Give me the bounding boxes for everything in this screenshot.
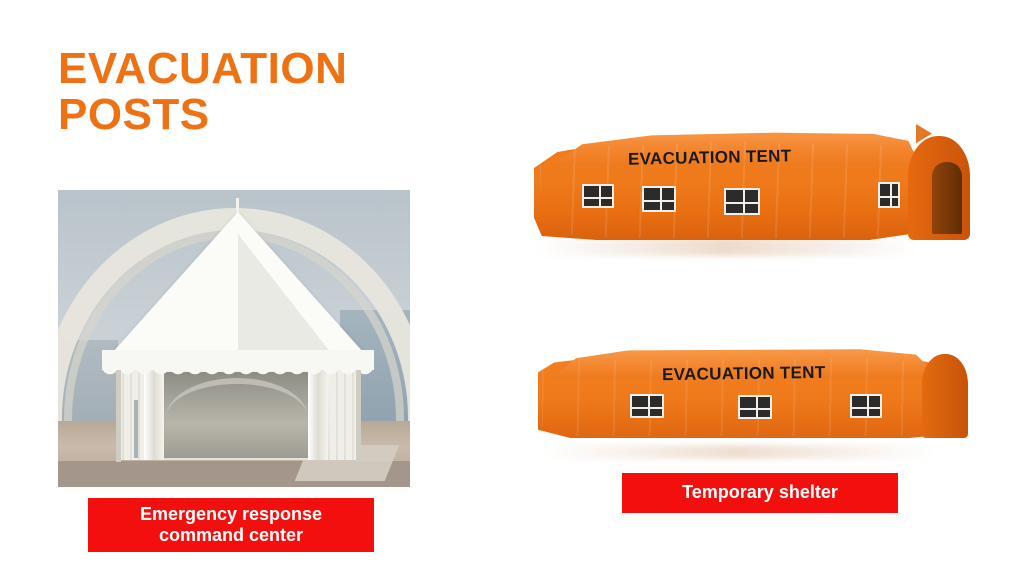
- tent-leg-left: [116, 370, 121, 462]
- white-pagoda-marquee-tent-photo: [58, 190, 410, 487]
- tent-window: [738, 395, 772, 419]
- tent-end-wall: [922, 354, 968, 438]
- orange-inflatable-evacuation-tent-photo-large: EVACUATION TENT: [520, 110, 970, 270]
- tent-window: [724, 188, 760, 215]
- large-inflatable-tent: EVACUATION TENT: [520, 110, 970, 270]
- tent-scalloped-trim: [102, 366, 374, 380]
- interior-pole: [134, 400, 138, 458]
- tent-window: [850, 394, 882, 418]
- tent-curtain-right: [308, 368, 328, 460]
- caption-temporary-shelter: Temporary shelter: [622, 473, 898, 513]
- slide-canvas: EVACUATION POSTS: [0, 0, 1024, 577]
- tent-window: [642, 186, 676, 212]
- tent-window: [878, 182, 900, 208]
- tent-leg-right: [356, 370, 361, 462]
- tent-curtain-left: [144, 368, 164, 460]
- caption-emergency-response-command-center: Emergency response command center: [88, 498, 374, 552]
- page-title: EVACUATION POSTS: [58, 46, 458, 138]
- orange-inflatable-evacuation-tent-photo-small: EVACUATION TENT: [520, 320, 970, 465]
- tent-printed-label: EVACUATION TENT: [628, 146, 792, 169]
- tent-doorway: [932, 162, 962, 234]
- small-inflatable-tent: EVACUATION TENT: [520, 320, 970, 465]
- tent-window: [582, 184, 614, 208]
- pagoda-roof-shaded-face: [238, 234, 338, 362]
- tent-ground-shadow: [542, 445, 934, 459]
- tent-ground-shadow: [536, 238, 916, 256]
- tent-printed-label: EVACUATION TENT: [662, 363, 826, 385]
- tent-window: [630, 394, 664, 418]
